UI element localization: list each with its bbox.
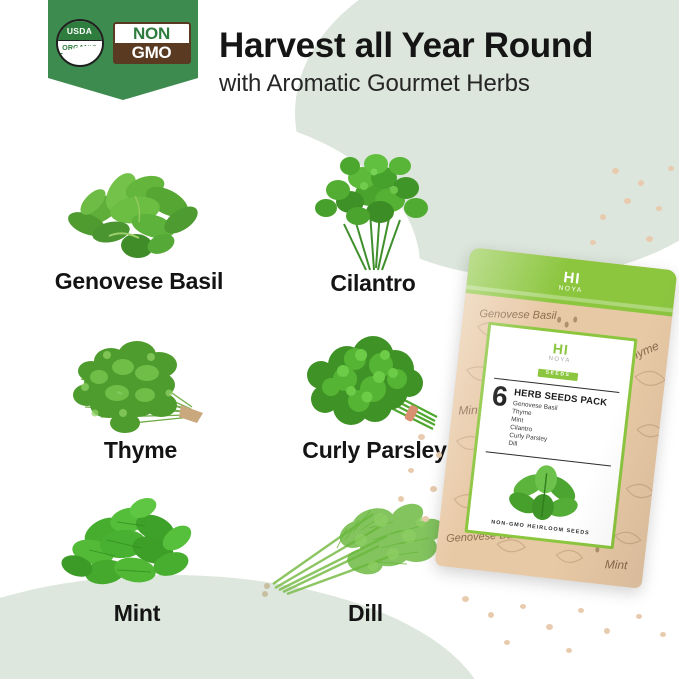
page-subtitle: with Aromatic Gourmet Herbs: [219, 70, 669, 98]
packet-glossy-sheen: [435, 247, 678, 588]
herb-label-mint: Mint: [26, 600, 248, 627]
herb-label-genovese-basil: Genovese Basil: [24, 268, 254, 295]
herb-item-cilantro: Cilantro: [258, 150, 488, 297]
herb-label-cilantro: Cilantro: [258, 270, 488, 297]
herb-label-thyme: Thyme: [28, 437, 253, 464]
herb-item-mint: Mint: [26, 488, 248, 627]
certification-banner: USDA ORGANIC NON GMO: [48, 0, 198, 100]
product-infographic: USDA ORGANIC NON GMO Harvest all Year Ro…: [0, 0, 679, 679]
mint-leaves-icon: [26, 488, 248, 600]
non-gmo-badge-icon: NON GMO: [113, 22, 191, 64]
usda-organic-seal-icon: USDA ORGANIC: [56, 19, 104, 67]
herb-item-thyme: Thyme: [28, 325, 253, 464]
non-gmo-line-2: GMO: [115, 43, 189, 62]
cilantro-bunch-icon: [258, 150, 488, 270]
page-title: Harvest all Year Round: [219, 26, 669, 66]
seed-packet-product: HI NOYA Genovese Basil Thyme Mint Genove…: [435, 247, 678, 588]
headline-block: Harvest all Year Round with Aromatic Gou…: [219, 26, 669, 98]
non-gmo-line-1: NON: [115, 24, 189, 43]
thyme-bunch-icon: [28, 325, 253, 437]
herb-label-dill: Dill: [248, 600, 483, 627]
basil-leaves-icon: [24, 158, 254, 268]
herb-item-genovese-basil: Genovese Basil: [24, 158, 254, 295]
usda-seal-top-text: USDA: [67, 26, 92, 36]
